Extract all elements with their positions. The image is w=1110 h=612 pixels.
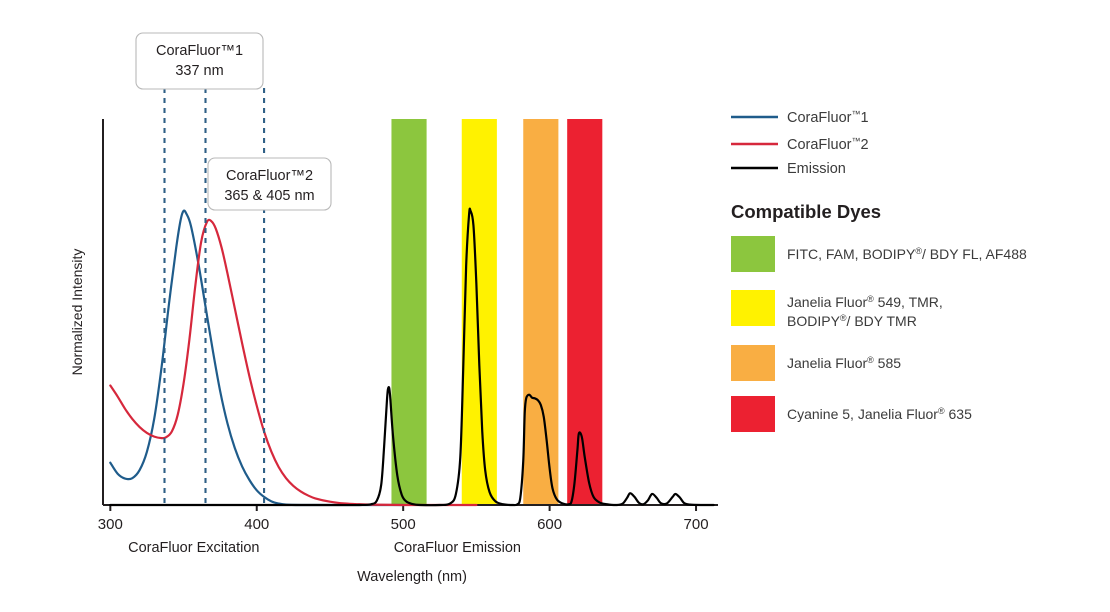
dye-color-swatch — [731, 396, 775, 432]
dye-color-swatch — [731, 236, 775, 272]
green-band — [391, 119, 426, 505]
yellow-band — [462, 119, 497, 505]
x-tick-label: 400 — [244, 516, 269, 533]
red-band — [567, 119, 602, 505]
x-tick-label: 600 — [537, 516, 562, 533]
corafluor1-callout-box — [136, 33, 263, 89]
x-tick-label: 700 — [684, 516, 709, 533]
corafluor2-callout: CoraFluor™2365 & 405 nm — [208, 158, 331, 210]
x-axis-title: Wavelength (nm) — [357, 569, 467, 585]
orange-band — [523, 119, 558, 505]
corafluor1-callout-value: 337 nm — [175, 63, 223, 79]
dye-label: BODIPY®/ BDY TMR — [787, 313, 917, 329]
y-axis-title: Normalized Intensity — [69, 249, 85, 376]
corafluor2-callout-title: CoraFluor™2 — [226, 168, 313, 184]
corafluor1-callout: CoraFluor™1337 nm — [136, 33, 263, 89]
dye-color-swatch — [731, 345, 775, 381]
emission-filter-bands — [391, 119, 602, 505]
legend-series-label: Emission — [787, 161, 846, 177]
region-caption: CoraFluor Excitation — [128, 540, 259, 556]
corafluor2-callout-value: 365 & 405 nm — [224, 188, 314, 204]
dye-label: Janelia Fluor® 549, TMR, — [787, 294, 943, 310]
dye-label: Cyanine 5, Janelia Fluor® 635 — [787, 406, 972, 422]
corafluor1-callout-title: CoraFluor™1 — [156, 43, 243, 59]
dye-label: FITC, FAM, BODIPY®/ BDY FL, AF488 — [787, 246, 1027, 262]
x-tick-label: 500 — [391, 516, 416, 533]
compatible-dyes-heading: Compatible Dyes — [731, 201, 881, 222]
dye-label: Janelia Fluor® 585 — [787, 355, 901, 371]
dye-color-swatch — [731, 290, 775, 326]
spectral-overlap-chart: 300400500600700 CoraFluor™1337 nmCoraFlu… — [0, 0, 1110, 612]
region-caption: CoraFluor Emission — [394, 540, 521, 556]
x-tick-label: 300 — [98, 516, 123, 533]
